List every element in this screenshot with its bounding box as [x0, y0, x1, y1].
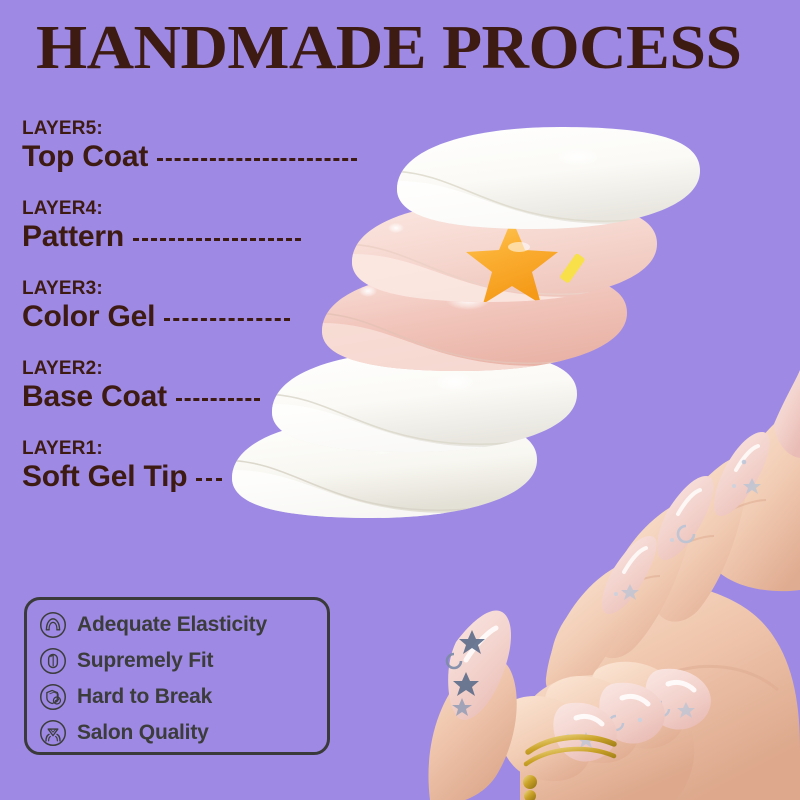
- layer-name-3: Color Gel: [22, 300, 155, 334]
- layer-item-1: LAYER1: Soft Gel Tip: [0, 438, 420, 518]
- layer-legend-list: LAYER5: Top Coat LAYER4: Pattern LAYER3:…: [0, 118, 420, 518]
- layer-name-1: Soft Gel Tip: [22, 460, 187, 494]
- hands-with-nails-photo: [400, 340, 800, 800]
- feature-label-elasticity: Adequate Elasticity: [77, 613, 267, 637]
- feature-label-fit: Supremely Fit: [77, 649, 213, 673]
- pattern-bar-decor: [559, 253, 585, 284]
- page-title: HANDMADE PROCESS: [36, 18, 800, 78]
- elasticity-arch-icon: [39, 611, 67, 639]
- layer-dash-1: [196, 478, 222, 481]
- layer-kicker-2: LAYER2:: [22, 358, 103, 380]
- layer-item-2: LAYER2: Base Coat: [0, 358, 420, 438]
- feature-label-quality: Salon Quality: [77, 721, 209, 745]
- layer-kicker-4: LAYER4:: [22, 198, 103, 220]
- hands-gem-icon: [39, 719, 67, 747]
- layer-kicker-3: LAYER3:: [22, 278, 103, 300]
- feature-item-quality: Salon Quality: [39, 715, 327, 751]
- poster-canvas: HANDMADE PROCESS LAYER5: Top Coat LAYER4…: [0, 0, 800, 800]
- feature-list-box: Adequate Elasticity Supremely Fit Hard t…: [24, 597, 330, 755]
- shield-check-icon: [39, 683, 67, 711]
- feature-item-elasticity: Adequate Elasticity: [39, 607, 327, 643]
- feature-item-fit: Supremely Fit: [39, 643, 327, 679]
- feature-label-durability: Hard to Break: [77, 685, 212, 709]
- pattern-star-decor: [466, 219, 558, 304]
- layer-name-2: Base Coat: [22, 380, 167, 414]
- layer-dash-5: [157, 158, 357, 161]
- layer-name-5: Top Coat: [22, 140, 148, 174]
- nail-layer-5-top-coat: [390, 127, 710, 236]
- layer-name-4: Pattern: [22, 220, 124, 254]
- fingernail-fit-icon: [39, 647, 67, 675]
- layer-dash-2: [176, 398, 260, 401]
- feature-item-durability: Hard to Break: [39, 679, 327, 715]
- layer-item-4: LAYER4: Pattern: [0, 198, 420, 278]
- layer-kicker-1: LAYER1:: [22, 438, 103, 460]
- layer-dash-4: [133, 238, 301, 241]
- layer-item-3: LAYER3: Color Gel: [0, 278, 420, 358]
- layer-item-5: LAYER5: Top Coat: [0, 118, 420, 198]
- thumb-with-nail: [428, 610, 516, 800]
- layer-dash-3: [164, 318, 290, 321]
- layer-kicker-5: LAYER5:: [22, 118, 103, 140]
